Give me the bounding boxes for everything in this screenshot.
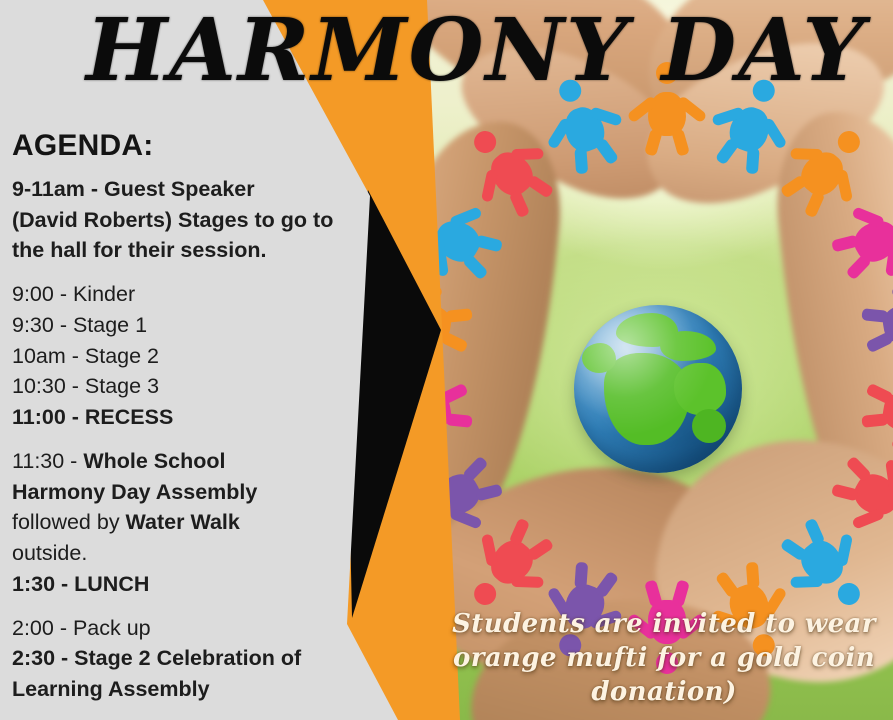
agenda-text-normal: 10:30 - Stage 3 xyxy=(12,374,159,398)
agenda-line: 11:00 - RECESS xyxy=(12,402,362,433)
agenda-text-bold: 9-11am - Guest Speaker xyxy=(12,177,255,201)
agenda-text-bold: 2:30 - Stage 2 Celebration of xyxy=(12,646,301,670)
agenda-line: 10am - Stage 2 xyxy=(12,341,362,372)
person-leg-right xyxy=(574,561,588,588)
agenda-line: (David Roberts) Stages to go to xyxy=(12,205,362,236)
person-leg-right xyxy=(746,147,760,174)
person-leg-right xyxy=(804,189,826,218)
person-leg-left xyxy=(804,517,826,546)
agenda-text-bold: the hall for their session. xyxy=(12,238,266,262)
harmony-day-poster: HARMONY DAY AGENDA: 9-11am - Guest Speak… xyxy=(0,0,893,720)
caption-line: donation) xyxy=(448,676,880,710)
agenda-line: 9:00 - Kinder xyxy=(12,279,362,310)
person-leg-left xyxy=(446,413,473,428)
caption-line: Students are invited to wear xyxy=(448,608,880,642)
agenda-line: followed by Water Walk xyxy=(12,507,362,538)
person-leg-left xyxy=(861,308,888,323)
person-leg-left xyxy=(509,189,531,218)
agenda-line: the hall for their session. xyxy=(12,235,362,266)
agenda-block-stage-times: 9:00 - Kinder9:30 - Stage 110am - Stage … xyxy=(12,279,362,433)
agenda-text-bold: Water Walk xyxy=(126,510,240,534)
agenda-line: 2:00 - Pack up xyxy=(12,613,362,644)
person-leg-right xyxy=(780,537,808,561)
person-arm-left xyxy=(511,575,543,587)
agenda-text-normal: 2:00 - Pack up xyxy=(12,616,151,640)
agenda-text-normal: 11:30 - xyxy=(12,449,83,473)
person-leg-left xyxy=(780,174,808,198)
agenda-text-normal: 10am - Stage 2 xyxy=(12,344,159,368)
person-arm-right xyxy=(511,148,543,160)
agenda-heading: AGENDA: xyxy=(12,129,153,163)
agenda-text-bold: Whole School xyxy=(83,449,225,473)
agenda-line: Harmony Day Assembly xyxy=(12,477,362,508)
agenda-line: outside. xyxy=(12,538,362,569)
mufti-caption: Students are invited to wearorange mufti… xyxy=(448,608,880,709)
agenda-text-bold: Harmony Day Assembly xyxy=(12,480,257,504)
agenda-line: 9-11am - Guest Speaker xyxy=(12,174,362,205)
agenda-line: 10:30 - Stage 3 xyxy=(12,371,362,402)
agenda-text-normal: 9:30 - Stage 1 xyxy=(12,313,147,337)
agenda-text-normal: followed by xyxy=(12,510,126,534)
person-arm-right xyxy=(790,575,822,587)
agenda-line: 1:30 - LUNCH xyxy=(12,569,362,600)
earth-globe-icon xyxy=(574,305,742,473)
globe-highlight xyxy=(574,305,742,473)
person-leg-right xyxy=(446,308,473,323)
agenda-text-bold: Learning Assembly xyxy=(12,677,210,701)
agenda-text-bold: (David Roberts) Stages to go to xyxy=(12,208,333,232)
person-leg-left xyxy=(746,561,760,588)
person-leg-left xyxy=(526,537,554,561)
person-leg-left xyxy=(574,147,588,174)
agenda-line: 9:30 - Stage 1 xyxy=(12,310,362,341)
person-leg-right xyxy=(526,174,554,198)
agenda-line: 11:30 - Whole School xyxy=(12,446,362,477)
person-leg-right xyxy=(861,413,888,428)
agenda-text-normal: 9:00 - Kinder xyxy=(12,282,135,306)
person-leg-right xyxy=(509,517,531,546)
agenda-text-normal: outside. xyxy=(12,541,87,565)
agenda-line: 2:30 - Stage 2 Celebration of xyxy=(12,643,362,674)
caption-line: orange mufti for a gold coin xyxy=(448,642,880,676)
agenda-block-assembly-lunch: 11:30 - Whole SchoolHarmony Day Assembly… xyxy=(12,446,362,600)
agenda-text-bold: 1:30 - LUNCH xyxy=(12,572,149,596)
agenda-list: 9-11am - Guest Speaker(David Roberts) St… xyxy=(12,174,362,705)
person-arm-left xyxy=(790,148,822,160)
agenda-block-pack-up-celebration: 2:00 - Pack up2:30 - Stage 2 Celebration… xyxy=(12,613,362,705)
agenda-text-bold: 11:00 - RECESS xyxy=(12,405,173,429)
agenda-block-guest-speaker: 9-11am - Guest Speaker(David Roberts) St… xyxy=(12,174,362,266)
agenda-line: Learning Assembly xyxy=(12,674,362,705)
poster-title: HARMONY DAY xyxy=(86,8,866,94)
